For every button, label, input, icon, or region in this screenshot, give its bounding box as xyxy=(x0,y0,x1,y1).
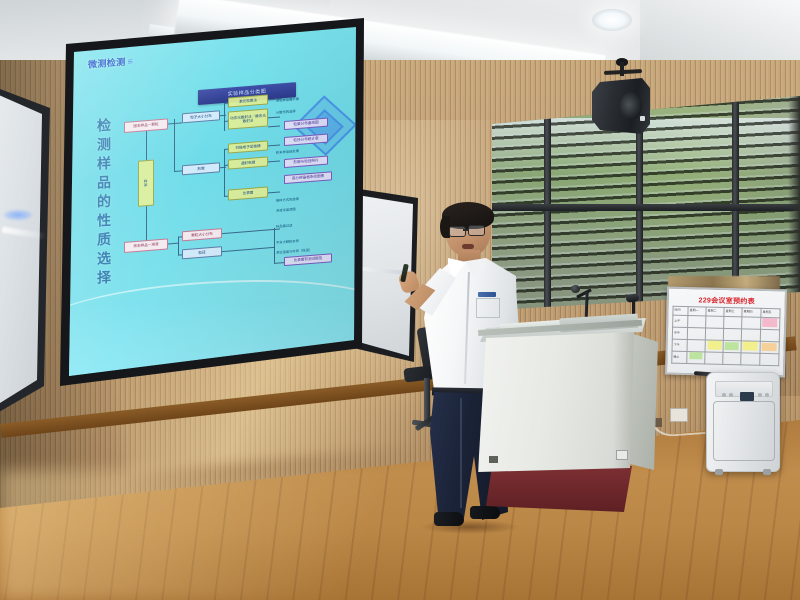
booking-row-header: 中午 xyxy=(674,331,680,335)
slide-vertical-title: 检测样品的性质选择 xyxy=(94,117,114,289)
booking-row-header: 晚上 xyxy=(673,355,679,359)
window-frame-right xyxy=(788,96,800,310)
diagram-node: 扫描电子显微镜 xyxy=(228,140,268,153)
eyeglasses-bridge xyxy=(463,229,469,231)
diagram-node: 粒径分布统计表 xyxy=(284,134,328,147)
recessed-downlight-icon xyxy=(592,9,632,31)
lectern-latch[interactable] xyxy=(489,456,498,463)
diamond-watermark-icon xyxy=(292,95,359,158)
diagram-annotation: 分散剂的选择 xyxy=(276,108,296,115)
sticky-note[interactable] xyxy=(762,318,777,327)
eyeglasses-icon xyxy=(449,226,466,237)
photo-scene: 微测检测≡ 检测样品的性质选择 实验样品分类图 固态样品－颗粒 液态样品－溶液 … xyxy=(0,0,800,600)
diagram-annotation: 测试温度与时间（恒温） xyxy=(276,247,312,255)
booking-col-header: 星期四 xyxy=(743,309,752,313)
booking-col-header: 时间 xyxy=(674,308,680,312)
slide-diagram: 实验样品分类图 固态样品－颗粒 液态样品－溶液 样品 粒子大小分布 形貌 颗粒大… xyxy=(124,76,350,284)
purifier-caster-icon xyxy=(715,469,723,475)
purifier-control-panel[interactable] xyxy=(715,381,773,397)
power-outlet[interactable] xyxy=(670,408,688,422)
diagram-annotation: 样品需过滤 xyxy=(276,222,292,228)
diagram-center-node: 样品 xyxy=(138,160,154,207)
booking-row-header: 下午 xyxy=(674,343,680,347)
eyeglasses-icon xyxy=(468,225,485,236)
diagram-annotation: 粉末样品前处理 xyxy=(276,148,299,155)
purifier-caster-icon xyxy=(763,469,771,475)
presenter-shoe xyxy=(470,506,500,519)
window-mullion xyxy=(544,96,551,310)
diagram-node: 粒径 xyxy=(182,246,222,259)
sticky-note[interactable] xyxy=(708,341,722,350)
whiteboard-glare xyxy=(4,210,32,220)
slide-company-logo: 微测检测≡ xyxy=(88,54,133,71)
presenter-shoe xyxy=(434,512,464,526)
air-purifier[interactable] xyxy=(706,372,780,472)
diagram-annotation: 测试样品需干燥 xyxy=(276,96,299,103)
gooseneck-microphone-icon[interactable] xyxy=(571,285,580,293)
diagram-title: 实验样品分类图 xyxy=(198,82,296,105)
purifier-button[interactable] xyxy=(758,393,762,397)
diagram-node: 颗粒大小分布 xyxy=(182,228,222,241)
diagram-node: 粒子大小分布 xyxy=(182,110,220,123)
diagram-node: 激光粒度法 xyxy=(228,94,268,107)
lectern-body[interactable] xyxy=(478,332,635,472)
purifier-button[interactable] xyxy=(722,393,726,397)
speaker-horn-icon xyxy=(620,92,642,120)
booking-board-grid: 时间 星期一 星期二 星期三 星期四 星期五 上午 中午 下午 晚上 xyxy=(671,306,780,367)
diagram-node: 形貌与粒径照片 xyxy=(284,156,328,169)
slide-wave-curve xyxy=(52,280,364,342)
diagram-node: 动态光散射法／静态光散射法 xyxy=(228,108,268,129)
purifier-button[interactable] xyxy=(729,393,733,397)
purifier-filter-panel xyxy=(713,401,775,461)
diagram-node: 固态样品－颗粒 xyxy=(124,118,168,133)
diagram-node: 比表面积测试报告 xyxy=(284,253,332,266)
speaker-led-icon xyxy=(640,116,645,121)
window-transom xyxy=(492,204,800,211)
speaker-mount-bracket xyxy=(620,62,624,76)
diagram-node: 粒度分布曲线图 xyxy=(284,118,328,131)
sticky-note[interactable] xyxy=(725,342,739,350)
sticky-note[interactable] xyxy=(743,341,758,350)
sticky-note[interactable] xyxy=(762,343,777,351)
diagram-node: 透射电镜 xyxy=(228,156,268,169)
diagram-annotation: 制样方式的选择 xyxy=(276,196,299,203)
diagram-node: 形貌 xyxy=(182,162,220,175)
diagram-node: 高分辨晶格条纹图像 xyxy=(284,171,332,184)
trouser-crease xyxy=(460,398,462,508)
booking-col-header: 星期五 xyxy=(762,310,771,314)
diagram-annotation: 不含大颗粒杂质 xyxy=(276,238,299,245)
purifier-button[interactable] xyxy=(765,393,769,397)
shirt-pocket xyxy=(476,298,500,318)
lectern-latch[interactable] xyxy=(616,450,628,460)
ceiling-soffit-right xyxy=(640,0,800,60)
purifier-display xyxy=(740,392,754,401)
diagram-node: 液态样品－溶液 xyxy=(124,238,168,253)
booking-col-header: 星期二 xyxy=(707,309,716,313)
shirt-pocket-logo xyxy=(478,292,496,297)
diagram-node: 比表面 xyxy=(228,186,268,200)
three-bars-logo-icon: ≡ xyxy=(128,56,134,66)
meeting-room-booking-board[interactable]: 229会议室预约表 时间 星期一 星期二 星期三 星期四 星期五 上午 中午 下… xyxy=(665,287,787,378)
sticky-note[interactable] xyxy=(689,352,702,359)
projection-screen[interactable]: 微测检测≡ 检测样品的性质选择 实验样品分类图 固态样品－颗粒 液态样品－溶液 … xyxy=(52,18,364,386)
presenter-mouth xyxy=(462,244,474,249)
booking-row-header: 上午 xyxy=(674,319,680,323)
diagram-annotation: 溶液浓度范围 xyxy=(276,206,296,213)
slide-logo-text: 微测检测 xyxy=(88,57,126,70)
booking-col-header: 星期三 xyxy=(725,309,734,313)
booking-col-header: 星期一 xyxy=(689,308,698,312)
lectern-base xyxy=(486,466,632,512)
